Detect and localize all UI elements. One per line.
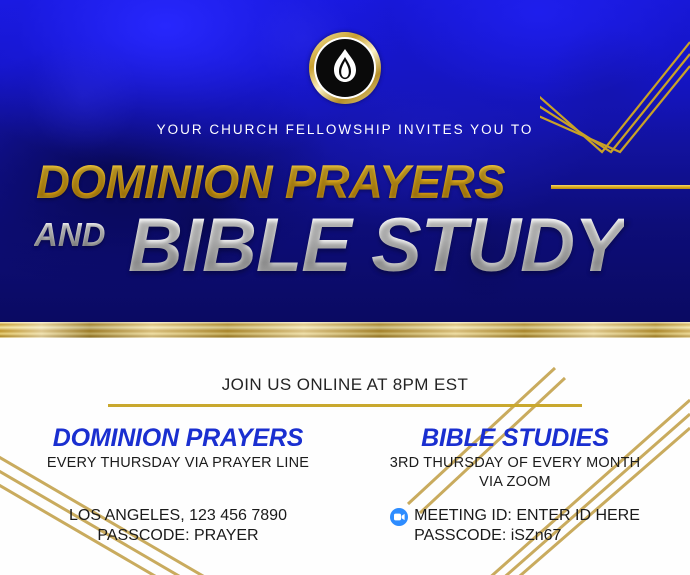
column-title: BIBLE STUDIES [355,424,675,452]
gold-divider-bar [0,322,690,338]
column-subtitle-line-2: VIA ZOOM [355,473,675,492]
contact-line-1: LOS ANGELES, 123 456 7890 [18,506,338,526]
gold-chevron-decoration [540,0,690,175]
column-bible-studies: BIBLE STUDIES 3RD THURSDAY OF EVERY MONT… [355,424,675,492]
contact-dominion-prayers: LOS ANGELES, 123 456 7890 PASSCODE: PRAY… [18,506,338,546]
headline-and: AND [34,218,106,251]
blue-background-panel: YOUR CHURCH FELLOWSHIP INVITES YOU TO DO… [0,0,690,322]
zoom-icon [390,508,408,526]
column-subtitle-line-1: 3RD THURSDAY OF EVERY MONTH [355,454,675,473]
chevron-lines-icon [540,0,690,175]
headline-bible-study: BIBLE STUDY [128,208,624,284]
column-title: DOMINION PRAYERS [18,424,338,452]
column-subtitle-line-1: EVERY THURSDAY VIA PRAYER LINE [18,454,338,473]
headline-gold-rule [551,185,690,189]
headline-dominion-prayers: DOMINION PRAYERS [36,158,505,205]
church-logo [309,32,381,104]
join-online-text: JOIN US ONLINE AT 8PM EST [0,375,690,395]
contact-line-2: PASSCODE: iSZn67 [414,526,640,546]
column-dominion-prayers: DOMINION PRAYERS EVERY THURSDAY VIA PRAY… [18,424,338,473]
contact-line-1: MEETING ID: ENTER ID HERE [414,506,640,526]
join-gold-underline [108,404,582,407]
contact-line-2: PASSCODE: PRAYER [18,526,338,546]
video-camera-icon [394,513,405,521]
flame-logo-icon [328,48,362,88]
logo-black-disc [316,39,374,97]
church-event-flyer: YOUR CHURCH FELLOWSHIP INVITES YOU TO DO… [0,0,690,575]
kicker-text: YOUR CHURCH FELLOWSHIP INVITES YOU TO [0,122,690,137]
contact-bible-studies: MEETING ID: ENTER ID HERE PASSCODE: iSZn… [355,506,675,546]
